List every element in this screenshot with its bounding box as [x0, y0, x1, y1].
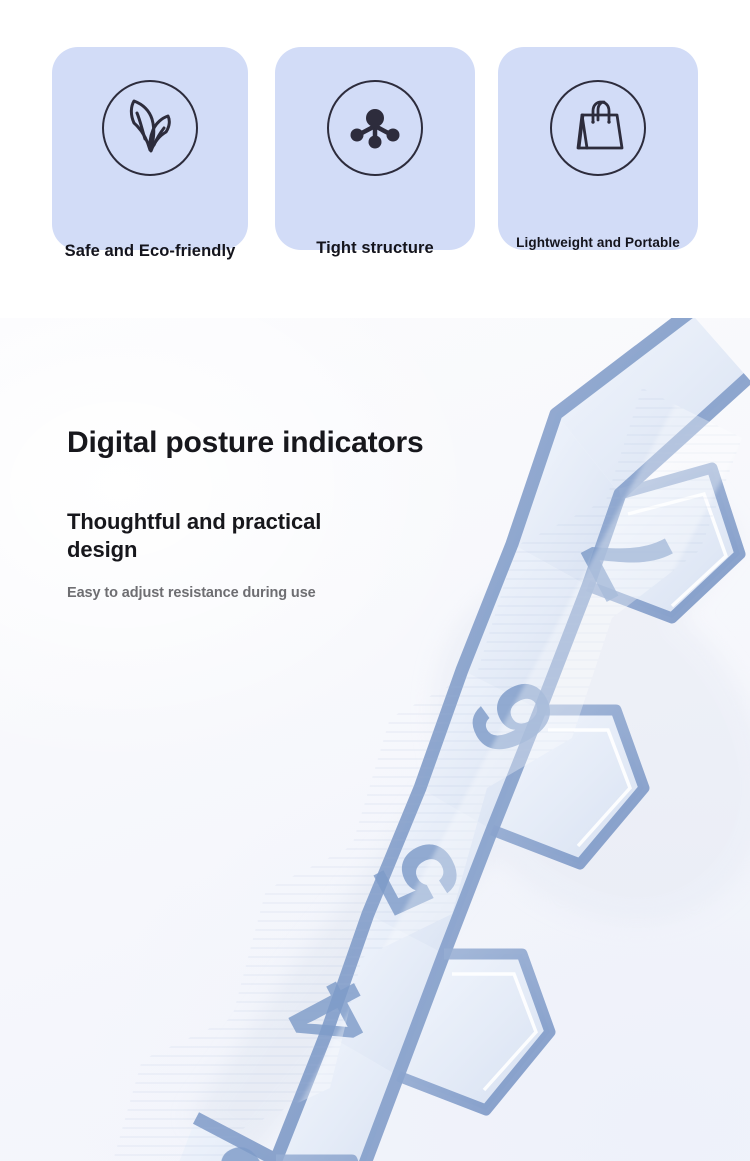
promo-subhead: Thoughtful and practical design — [67, 508, 397, 564]
feature-card-safe-and-eco-friendly[interactable]: Safe and Eco-friendly — [52, 47, 248, 250]
page-title: Digital posture indicators — [67, 426, 424, 460]
feature-card-label: Lightweight and Portable — [498, 235, 698, 250]
feature-card-label: Tight structure — [275, 239, 475, 258]
promo-copy: Digital posture indicators Thoughtful an… — [0, 318, 750, 1161]
feature-card-label: Safe and Eco-friendly — [52, 242, 248, 261]
promo-caption: Easy to adjust resistance during use — [67, 585, 316, 601]
feature-strip: Safe and Eco-friendly Tight structure — [0, 0, 750, 318]
leaf-eco-icon — [102, 80, 198, 176]
feature-card-tight-structure[interactable]: Tight structure — [275, 47, 475, 250]
shopping-bag-icon — [550, 80, 646, 176]
feature-card-lightweight-and-portable[interactable]: Lightweight and Portable — [498, 47, 698, 250]
molecule-node-icon — [327, 80, 423, 176]
